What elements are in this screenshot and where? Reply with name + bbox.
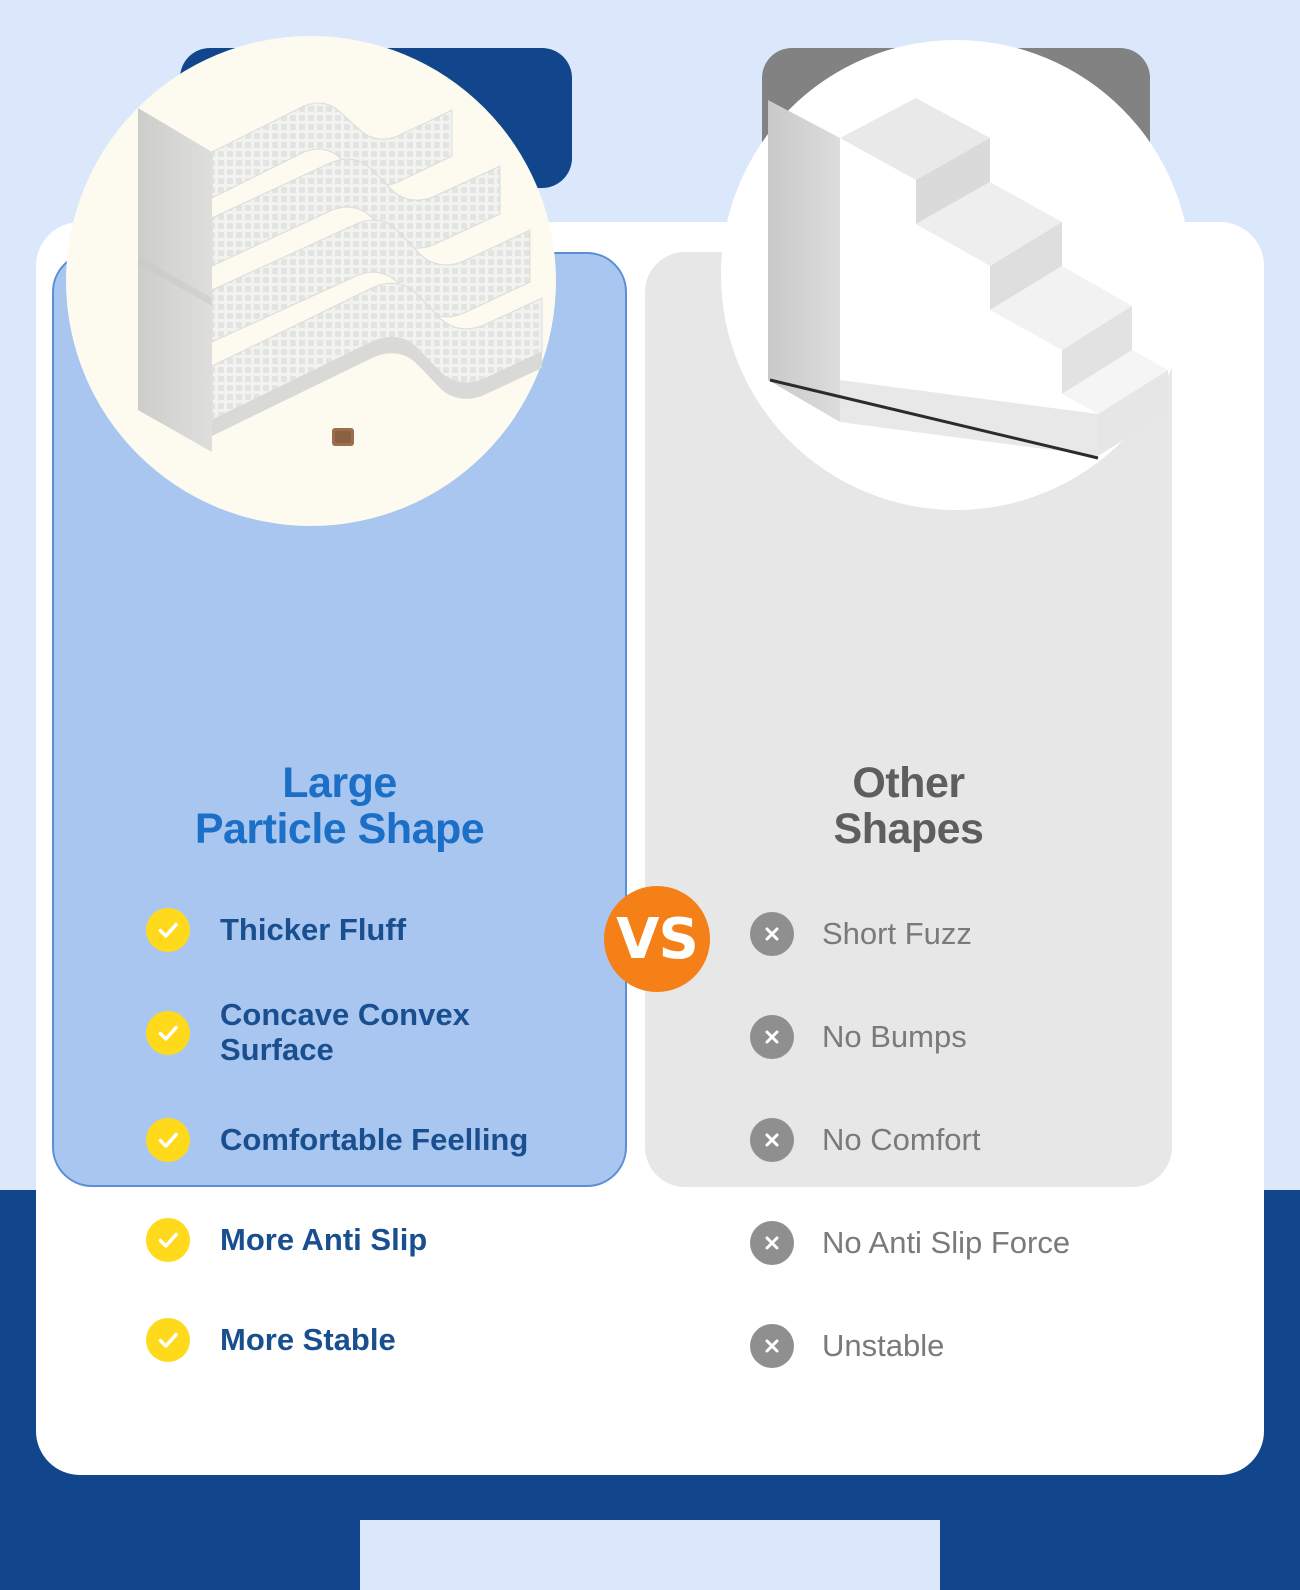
list-item: No Comfort <box>750 1118 980 1162</box>
list-item-label: More Anti Slip <box>220 1223 427 1258</box>
cross-icon <box>750 1118 794 1162</box>
list-item-label: No Anti Slip Force <box>822 1226 1070 1261</box>
right-panel-title-line-2: Shapes <box>645 806 1172 852</box>
left-panel-title-line-1: Large <box>52 760 627 806</box>
left-panel-title-line-2: Particle Shape <box>52 806 627 852</box>
cross-icon <box>750 912 794 956</box>
foam-pet-stairs-textured-image <box>100 60 550 490</box>
list-item: No Anti Slip Force <box>750 1221 1070 1265</box>
cross-icon <box>750 1324 794 1368</box>
vs-badge: VS <box>604 886 710 992</box>
list-item-label: Concave Convex Surface <box>220 998 550 1067</box>
list-item-label: Unstable <box>822 1329 944 1364</box>
list-item-label: No Comfort <box>822 1123 980 1158</box>
list-item: Thicker Fluff <box>146 908 406 952</box>
list-item: Concave Convex Surface <box>146 998 550 1067</box>
right-panel-title-line-1: Other <box>645 760 1172 806</box>
check-icon <box>146 1118 190 1162</box>
list-item: More Anti Slip <box>146 1218 427 1262</box>
right-panel-title: Other Shapes <box>645 760 1172 853</box>
list-item: Unstable <box>750 1324 944 1368</box>
cross-icon <box>750 1015 794 1059</box>
list-item: Comfortable Feelling <box>146 1118 528 1162</box>
list-item: Short Fuzz <box>750 912 972 956</box>
check-icon <box>146 908 190 952</box>
list-item: No Bumps <box>750 1015 967 1059</box>
list-item-label: Short Fuzz <box>822 917 972 952</box>
list-item-label: More Stable <box>220 1323 396 1358</box>
check-icon <box>146 1318 190 1362</box>
list-item-label: Thicker Fluff <box>220 913 406 948</box>
list-item-label: No Bumps <box>822 1020 967 1055</box>
vs-label: VS <box>616 907 698 972</box>
list-item: More Stable <box>146 1318 396 1362</box>
list-item-label: Comfortable Feelling <box>220 1123 528 1158</box>
cross-icon <box>750 1221 794 1265</box>
check-icon <box>146 1011 190 1055</box>
plain-gray-pet-stairs-image <box>740 60 1180 480</box>
check-icon <box>146 1218 190 1262</box>
left-panel-title: Large Particle Shape <box>52 760 627 853</box>
